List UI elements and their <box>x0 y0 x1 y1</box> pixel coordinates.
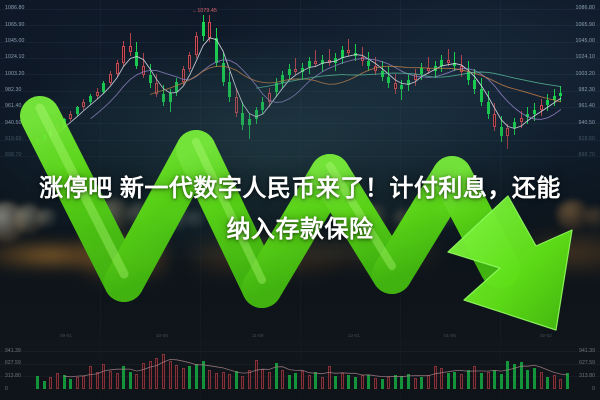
image-canvas: ←1079.45 1086.801065.901045.001024.10100… <box>0 0 600 400</box>
headline-line-1: 涨停吧 新一代数字人民币来了！计付利息，还能 <box>0 168 600 209</box>
headline-text: 涨停吧 新一代数字人民币来了！计付利息，还能 纳入存款保险 <box>0 168 600 250</box>
headline-line-2: 纳入存款保险 <box>0 209 600 250</box>
